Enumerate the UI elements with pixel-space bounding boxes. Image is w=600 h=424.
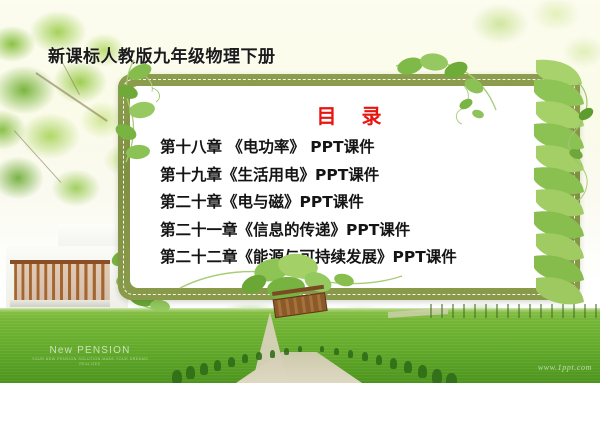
shrub-icon	[390, 358, 397, 369]
path-shrubs	[170, 330, 470, 383]
toc-card: 目 录 第十八章 《电功率》 PPT课件 第十九章《生活用电》PPT课件 第二十…	[118, 74, 580, 300]
shrub-icon	[348, 350, 353, 358]
balcony	[14, 261, 110, 303]
toc-list: 第十八章 《电功率》 PPT课件 第十九章《生活用电》PPT课件 第二十章《电与…	[160, 134, 554, 272]
shrub-icon	[172, 370, 182, 383]
toc-item[interactable]: 第十八章 《电功率》 PPT课件	[160, 134, 554, 162]
shrub-icon	[404, 361, 412, 373]
shrub-icon	[446, 373, 457, 383]
shrub-icon	[242, 354, 248, 363]
balcony-handrail	[10, 260, 110, 264]
toc-item[interactable]: 第二十章《电与磁》PPT课件	[160, 189, 554, 217]
shrub-icon	[200, 363, 208, 375]
shrub-icon	[298, 346, 302, 352]
bottom-white-margin	[0, 383, 600, 424]
shrub-icon	[376, 355, 382, 365]
slide-canvas: New PENSION YOUR NEW PENSION SOLUTION MA…	[0, 0, 600, 424]
toc-item[interactable]: 第十九章《生活用电》PPT课件	[160, 162, 554, 190]
shrub-icon	[214, 360, 221, 371]
toc-item[interactable]: 第二十一章《信息的传递》PPT课件	[160, 217, 554, 245]
shrub-icon	[320, 346, 324, 352]
shrub-icon	[284, 348, 289, 355]
shrub-icon	[418, 365, 427, 378]
balcony-railing	[14, 261, 110, 303]
fence-line	[430, 304, 600, 318]
shrub-icon	[270, 350, 275, 358]
toc-item[interactable]: 第二十二章《能源与可持续发展》PPT课件	[160, 244, 554, 272]
shrub-icon	[186, 366, 195, 379]
balcony-floor	[10, 300, 110, 307]
shrub-icon	[228, 357, 235, 367]
card-content-area: 目 录 第十八章 《电功率》 PPT课件 第十九章《生活用电》PPT课件 第二十…	[130, 86, 568, 288]
shrub-icon	[362, 352, 368, 361]
shrub-icon	[256, 352, 262, 360]
shrub-icon	[432, 369, 442, 383]
shrub-icon	[334, 348, 339, 355]
toc-title: 目 录	[130, 100, 568, 129]
page-title: 新课标人教版九年级物理下册	[48, 42, 276, 67]
branch-icon	[13, 130, 61, 183]
